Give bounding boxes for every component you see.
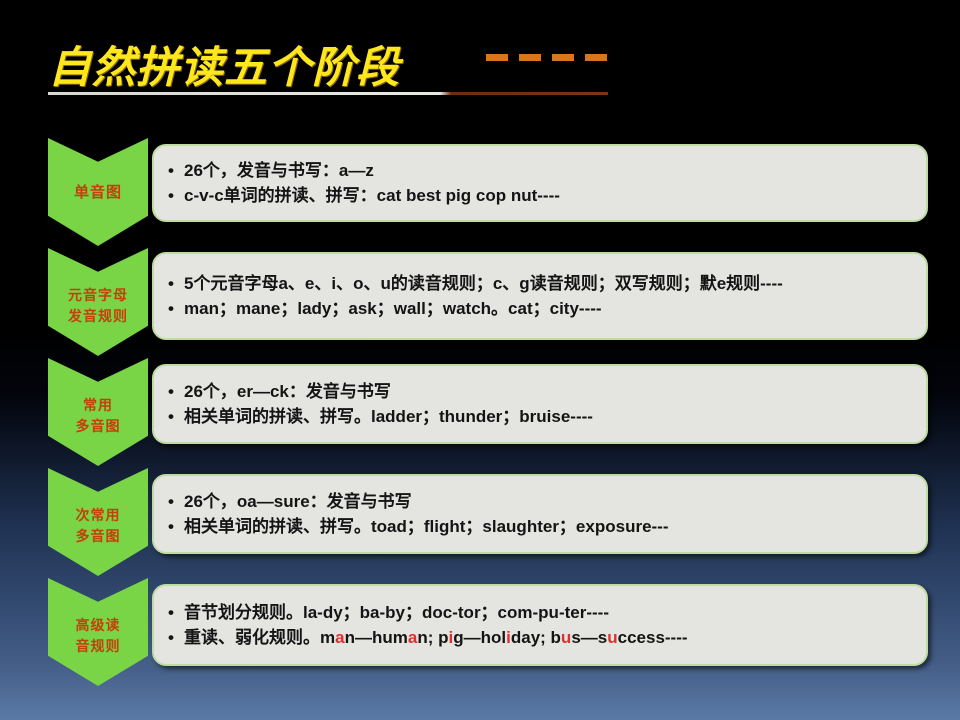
title-dashes-decoration bbox=[486, 54, 607, 61]
stage-chevron-1[interactable]: 单音图 bbox=[48, 138, 148, 246]
stage-card-5: •音节划分规则。la-dy；ba-by；doc-tor；com-pu-ter--… bbox=[152, 584, 928, 666]
stage-label-line-1: 元音字母 bbox=[68, 286, 128, 307]
bullet-item: •5个元音字母a、e、i、o、u的读音规则；c、g读音规则；双写规则；默e规则-… bbox=[168, 271, 910, 296]
bullet-item: •man；mane；lady；ask；wall；watch。cat；city--… bbox=[168, 296, 910, 321]
stage-card-2: •5个元音字母a、e、i、o、u的读音规则；c、g读音规则；双写规则；默e规则-… bbox=[152, 252, 928, 340]
text-run: 相关单词的拼读、拼写。ladder；thunder；bruise---- bbox=[184, 407, 593, 426]
bullet-item: •c-v-c单词的拼读、拼写：cat best pig cop nut---- bbox=[168, 183, 910, 208]
bullet-text: 重读、弱化规则。man—human; pig—holiday; bus—succ… bbox=[184, 625, 910, 650]
title-dash-2 bbox=[519, 54, 541, 61]
slide-canvas: 自然拼读五个阶段 单音图 •26个，发音与书写：a—z•c-v-c单词的拼读、拼… bbox=[0, 0, 960, 720]
stage-chevron-3[interactable]: 常用多音图 bbox=[48, 358, 148, 466]
text-run: 重读、弱化规则。m bbox=[184, 628, 335, 647]
stage-label-line-2: 发音规则 bbox=[68, 307, 128, 328]
stage-card-4: •26个，oa—sure：发音与书写•相关单词的拼读、拼写。toad；fligh… bbox=[152, 474, 928, 554]
bullet-dot-icon: • bbox=[168, 183, 184, 208]
bullet-text: 5个元音字母a、e、i、o、u的读音规则；c、g读音规则；双写规则；默e规则--… bbox=[184, 271, 910, 296]
stage-chevron-2[interactable]: 元音字母发音规则 bbox=[48, 248, 148, 356]
text-run: man；mane；lady；ask；wall；watch。cat；city---… bbox=[184, 299, 602, 318]
text-run: 26个，er—ck：发音与书写 bbox=[184, 382, 391, 401]
title-dash-3 bbox=[552, 54, 574, 61]
bullet-dot-icon: • bbox=[168, 158, 184, 183]
bullet-dot-icon: • bbox=[168, 514, 184, 539]
text-run: c-v-c单词的拼读、拼写：cat best pig cop nut---- bbox=[184, 186, 560, 205]
text-run: 26个，发音与书写：a—z bbox=[184, 161, 374, 180]
bullet-dot-icon: • bbox=[168, 296, 184, 321]
text-run: g—hol bbox=[453, 628, 506, 647]
bullet-dot-icon: • bbox=[168, 404, 184, 429]
bullet-dot-icon: • bbox=[168, 600, 184, 625]
bullet-dot-icon: • bbox=[168, 625, 184, 650]
text-run: day; b bbox=[511, 628, 561, 647]
highlight-letter: a bbox=[335, 628, 344, 647]
stage-card-1: •26个，发音与书写：a—z•c-v-c单词的拼读、拼写：cat best pi… bbox=[152, 144, 928, 222]
bullet-item: •相关单词的拼读、拼写。ladder；thunder；bruise---- bbox=[168, 404, 910, 429]
bullet-item: •音节划分规则。la-dy；ba-by；doc-tor；com-pu-ter--… bbox=[168, 600, 910, 625]
text-run: 5个元音字母a、e、i、o、u的读音规则；c、g读音规则；双写规则；默e规则--… bbox=[184, 274, 783, 293]
stage-chevron-4[interactable]: 次常用多音图 bbox=[48, 468, 148, 576]
bullet-text: 26个，er—ck：发音与书写 bbox=[184, 379, 910, 404]
bullet-dot-icon: • bbox=[168, 489, 184, 514]
text-run: 26个，oa—sure：发音与书写 bbox=[184, 492, 412, 511]
bullet-text: 26个，发音与书写：a—z bbox=[184, 158, 910, 183]
bullet-item: •26个，oa—sure：发音与书写 bbox=[168, 489, 910, 514]
stage-chevron-5[interactable]: 高级读音规则 bbox=[48, 578, 148, 686]
text-run: n—hum bbox=[345, 628, 408, 647]
text-run: s—s bbox=[571, 628, 607, 647]
highlight-letter: a bbox=[408, 628, 417, 647]
bullet-item: •相关单词的拼读、拼写。toad；flight；slaughter；exposu… bbox=[168, 514, 910, 539]
bullet-text: man；mane；lady；ask；wall；watch。cat；city---… bbox=[184, 296, 910, 321]
bullet-text: c-v-c单词的拼读、拼写：cat best pig cop nut---- bbox=[184, 183, 910, 208]
stage-row-3: 常用多音图 •26个，er—ck：发音与书写•相关单词的拼读、拼写。ladder… bbox=[48, 358, 928, 466]
stage-label-line-1: 常用 bbox=[83, 396, 113, 417]
text-run: 音节划分规则。la-dy；ba-by；doc-tor；com-pu-ter---… bbox=[184, 603, 609, 622]
text-run: n; p bbox=[417, 628, 448, 647]
title-underline-rule bbox=[48, 92, 608, 95]
text-run: 相关单词的拼读、拼写。toad；flight；slaughter；exposur… bbox=[184, 517, 669, 536]
stage-row-5: 高级读音规则 •音节划分规则。la-dy；ba-by；doc-tor；com-p… bbox=[48, 578, 928, 686]
bullet-text: 音节划分规则。la-dy；ba-by；doc-tor；com-pu-ter---… bbox=[184, 600, 910, 625]
stage-label-line-1: 高级读 bbox=[76, 616, 121, 637]
bullet-dot-icon: • bbox=[168, 379, 184, 404]
stage-row-1: 单音图 •26个，发音与书写：a—z•c-v-c单词的拼读、拼写：cat bes… bbox=[48, 138, 928, 246]
page-title: 自然拼读五个阶段 bbox=[48, 42, 608, 94]
stage-label-line-2: 多音图 bbox=[76, 527, 121, 548]
stage-row-2: 元音字母发音规则 •5个元音字母a、e、i、o、u的读音规则；c、g读音规则；双… bbox=[48, 248, 928, 356]
bullet-text: 26个，oa—sure：发音与书写 bbox=[184, 489, 910, 514]
bullet-item: •26个，er—ck：发音与书写 bbox=[168, 379, 910, 404]
stage-row-4: 次常用多音图 •26个，oa—sure：发音与书写•相关单词的拼读、拼写。toa… bbox=[48, 468, 928, 576]
stage-card-3: •26个，er—ck：发音与书写•相关单词的拼读、拼写。ladder；thund… bbox=[152, 364, 928, 444]
title-dash-1 bbox=[486, 54, 508, 61]
text-run: ccess---- bbox=[618, 628, 688, 647]
bullet-text: 相关单词的拼读、拼写。ladder；thunder；bruise---- bbox=[184, 404, 910, 429]
title-dash-4 bbox=[585, 54, 607, 61]
stage-label-line-1: 单音图 bbox=[74, 181, 122, 203]
bullet-dot-icon: • bbox=[168, 271, 184, 296]
stage-label-line-1: 次常用 bbox=[76, 506, 121, 527]
bullet-item: •重读、弱化规则。man—human; pig—holiday; bus—suc… bbox=[168, 625, 910, 650]
bullet-text: 相关单词的拼读、拼写。toad；flight；slaughter；exposur… bbox=[184, 514, 910, 539]
stage-label-line-2: 音规则 bbox=[76, 637, 121, 658]
stage-label-line-2: 多音图 bbox=[76, 417, 121, 438]
bullet-item: •26个，发音与书写：a—z bbox=[168, 158, 910, 183]
title-block: 自然拼读五个阶段 bbox=[48, 42, 608, 102]
highlight-letter: u bbox=[607, 628, 617, 647]
highlight-letter: u bbox=[561, 628, 571, 647]
